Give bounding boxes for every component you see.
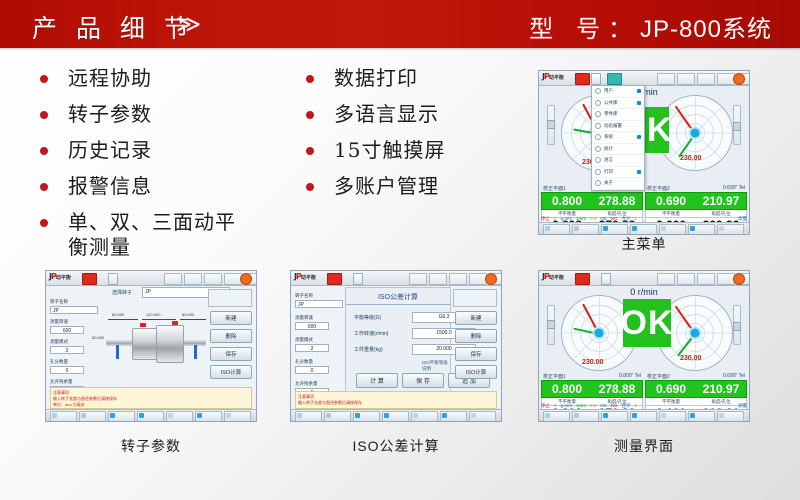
warning-box: 注意事项 输入转子长度与直径参数后请按保存 单位：mm 为毫米 [50,387,252,409]
bottom-button-settings[interactable] [440,411,467,422]
bottom-button-params[interactable] [411,411,438,422]
toolbar-stop-button[interactable] [82,273,97,285]
chevron-right-icon: ≫ [176,10,201,39]
app-toolbar: JP动平衡 [539,71,749,86]
table-row: 0.690210.97 [645,192,747,210]
settings-icon[interactable] [657,73,675,85]
power-icon[interactable] [733,273,745,285]
delete-button[interactable]: 删除 [455,329,497,343]
bottom-button-compare[interactable] [382,411,409,422]
plane2-label: 校正平面2 [647,373,670,380]
app-bottom-toolbar [46,409,256,421]
field-speed[interactable]: 测量转速600 [295,315,329,330]
calibrate-icon[interactable] [697,73,715,85]
bottom-button-three-plane[interactable] [324,411,351,422]
list-item-label: 单、双、三面动平 [68,210,236,234]
app-logo: JP动平衡 [49,272,71,281]
calibrate-icon[interactable] [697,273,715,285]
bottom-button-settings[interactable] [688,411,715,422]
toolbar-menu-button[interactable] [601,273,611,285]
save-button[interactable]: 保存 [210,347,252,361]
toolbar-dropdown-button[interactable] [591,73,601,85]
screenshot-measure-ui[interactable]: JP动平衡 0 r/min 230.00 [538,270,750,422]
list-item-label: 远程协助 [68,66,152,90]
slider-left[interactable] [547,105,555,145]
app-window: JP动平衡 选择转子 JP 转子名称JP 测量转速600 测量模式2 孔分数量0… [45,270,257,422]
plane1-label: 校正平面1 [543,373,566,380]
polar-value-left: 230.00 [582,359,603,366]
polar-hub [595,329,604,338]
calibrate-icon[interactable] [204,273,222,285]
save-button[interactable]: 保 存 [402,373,444,388]
plane2-label: 校正平面2 [647,185,670,192]
menu-item[interactable]: 语言 [592,155,644,167]
correction-mark-1 [140,323,146,327]
bottom-button-compare[interactable] [137,411,164,422]
caption-rotor-params: 转子参数 [45,436,257,456]
settings-icon[interactable] [409,273,427,285]
plane1-label: 校正平面1 [543,185,566,192]
list-item-label: 数据打印 [334,66,418,90]
correction-mark-2 [172,321,178,325]
list-item-label: 多账户管理 [334,174,439,198]
chart-icon[interactable] [429,273,447,285]
field-speed[interactable]: 测量转速600 [50,319,84,334]
menu-item[interactable]: 动态报警 [592,121,644,133]
rpm-display: 0 r/min [630,287,658,297]
chart-icon[interactable] [677,73,695,85]
toolbar-menu-button[interactable] [607,73,622,85]
bottom-button-print[interactable] [717,411,744,422]
caption-main-menu: 主菜单 [538,234,750,254]
table-row: 0.800278.88 [541,192,643,210]
list-item: 转子参数 [34,102,284,127]
bottom-button-three-plane[interactable] [79,411,106,422]
power-icon[interactable] [485,273,497,285]
save-button[interactable]: 保存 [455,347,497,361]
iso-row-label: 工件重量(kg) [354,346,412,353]
list-item-label: 转子参数 [68,102,152,126]
list-item-label-line2: 衡测量 [68,235,284,260]
bottom-button-calibrate[interactable] [108,411,135,422]
app-toolbar: JP动平衡 [539,271,749,286]
list-item: 单、双、三面动平衡测量 [34,210,284,260]
field-holes[interactable]: 孔分数量0 [50,359,84,374]
bullet-dot-icon [40,219,48,227]
menu-item[interactable]: 零件库 [592,109,644,121]
new-button[interactable]: 新建 [210,311,252,325]
menu-item[interactable]: 公共库 [592,98,644,110]
menu-item[interactable]: 系统 [592,132,644,144]
list-item: 数据打印 [300,66,520,91]
app-logo: JP动平衡 [542,72,564,81]
list-item: 报警信息 [34,174,284,199]
model-label: 型 号： [529,16,640,43]
bullet-dot-icon [40,75,48,83]
bottom-button-home[interactable] [543,411,570,422]
toolbar-stop-button[interactable] [575,273,590,285]
screenshot-rotor-params[interactable]: JP动平衡 选择转子 JP 转子名称JP 测量转速600 测量模式2 孔分数量0… [45,270,257,422]
field-rotor-name[interactable]: 转子名称JP [50,299,98,314]
bottom-button-params[interactable] [659,411,686,422]
chart-icon[interactable] [677,273,695,285]
iso-dialog: ISO公差计算 平衡等级(G)G6.3 工作转速(r/min)1500.0 工件… [345,287,451,395]
bottom-button-settings[interactable] [195,411,222,422]
app-bottom-toolbar [539,409,749,421]
power-icon[interactable] [733,73,745,85]
settings-icon[interactable] [657,273,675,285]
table-row: 0.690210.97 [645,380,747,398]
menu-item[interactable]: 打印 [592,167,644,179]
screenshot-main-menu[interactable]: JP动平衡 0 r/min [538,70,750,235]
app-toolbar: JP动平衡 [46,271,256,286]
delete-button[interactable]: 删除 [210,329,252,343]
rotor-thumbnail[interactable] [453,289,497,307]
model-value: JP-800系统 [640,16,772,43]
iso-note: ISO平衡等级说明 [422,360,450,372]
slider-left[interactable] [547,305,555,345]
chart-icon[interactable] [184,273,202,285]
toolbar-stop-button[interactable] [327,273,342,285]
list-item-label: 多语言显示 [334,102,439,126]
app-window: JP动平衡 转子名称JP 测量转速600 测量模式2 孔分数量0 允许残余量0 … [290,270,502,422]
bottom-button-params[interactable] [166,411,193,422]
app-logo: JP动平衡 [542,272,564,281]
app-bottom-toolbar [291,409,501,421]
list-item-label: 报警信息 [68,174,152,198]
bullet-dot-icon [40,111,48,119]
caption-iso-calc: ISO公差计算 [290,436,502,456]
toolbar-menu-button[interactable] [353,273,363,285]
status-bar: 停止 0 g·mm 1mm 0.0 OK NG 合计 1 测量 [541,215,747,222]
rotor-diagram: 60.000 120.000 60.000 60.000 60.000 [102,315,210,371]
status-badge-ok: OK [623,299,671,347]
page-header: 产 品 细 节 ≫ 型 号：JP-800系统 [0,0,800,48]
menu-item[interactable]: 关于 [592,178,644,190]
app-logo: JP动平衡 [294,272,316,281]
plane2-unit: 0.690" Tel [723,373,745,380]
bottom-button-print[interactable] [224,411,251,422]
app-toolbar: JP动平衡 [291,271,501,286]
iso-calc-button[interactable]: ISO计算 [455,365,497,379]
status-bar: 停止 0 g·mm 1mm 0.0 OK NG 合计 1 测量 [541,402,747,409]
iso-row-label: 平衡等级(G) [354,314,412,321]
polar-value-right: 230.00 [680,155,701,162]
list-item-label: 历史记录 [68,138,152,162]
screenshot-iso-calc[interactable]: JP动平衡 转子名称JP 测量转速600 测量模式2 孔分数量0 允许残余量0 … [290,270,502,422]
bottom-button-print[interactable] [469,411,496,422]
calibrate-icon[interactable] [449,273,467,285]
rotor-thumbnail[interactable] [208,289,252,307]
new-button[interactable]: 新建 [455,311,497,325]
feature-column-2: 数据打印 多语言显示 15寸触摸屏 多账户管理 [300,66,520,210]
settings-icon[interactable] [164,273,182,285]
menu-item[interactable]: 用户 [592,86,644,98]
polar-value-right: 230.00 [680,355,701,362]
power-icon[interactable] [240,273,252,285]
polar-hub [691,329,700,338]
dropdown-menu[interactable]: 用户 公共库 零件库 动态报警 系统 统计 语言 打印 关于 [591,85,645,191]
field-rotor-name[interactable]: 转子名称JP [295,293,343,308]
bullet-dot-icon [306,147,314,155]
list-item: 多语言显示 [300,102,520,127]
slider-right[interactable] [733,105,741,145]
bullet-dot-icon [40,183,48,191]
warning-box: 注意事项 输入转子长度与直径参数后请按保存 [295,391,497,409]
select-rotor-label: 选择转子 [112,289,132,296]
list-item: 历史记录 [34,138,284,163]
iso-dialog-title: ISO公差计算 [346,292,450,305]
bottom-button-calibrate[interactable] [353,411,380,422]
bottom-button-compare[interactable] [630,411,657,422]
slider-right[interactable] [733,305,741,345]
model-number: 型 号：JP-800系统 [529,9,772,44]
plane2-unit: 0.690" Tel [723,185,745,192]
bottom-button-three-plane[interactable] [572,411,599,422]
iso-row-label: 工作转速(r/min) [354,330,412,337]
bullet-dot-icon [306,75,314,83]
bullet-dot-icon [40,147,48,155]
list-item: 远程协助 [34,66,284,91]
page-title: 产 品 细 节 [32,9,195,45]
table-row: 0.800278.88 [541,380,643,398]
plane1-unit: 0.800" Tel [619,373,641,380]
polar-hub [691,129,700,138]
app-window: JP动平衡 0 r/min 230.00 [538,270,750,422]
field-mode[interactable]: 测量模式2 [50,339,84,354]
field-holes[interactable]: 孔分数量0 [295,359,329,374]
bullet-dot-icon [306,183,314,191]
app-bottom-toolbar [539,222,749,234]
field-mode[interactable]: 测量模式2 [295,337,329,352]
menu-item[interactable]: 统计 [592,144,644,156]
list-item-label: 15寸触摸屏 [334,138,445,162]
list-item: 15寸触摸屏 [300,138,520,163]
bottom-button-home[interactable] [50,411,77,422]
iso-calc-button[interactable]: ISO计算 [210,365,252,379]
calculate-button[interactable]: 计 算 [356,373,398,388]
toolbar-menu-button[interactable] [108,273,118,285]
list-item: 多账户管理 [300,174,520,199]
bottom-button-home[interactable] [295,411,322,422]
bottom-button-calibrate[interactable] [601,411,628,422]
app-window: JP动平衡 0 r/min [538,70,750,235]
caption-measure-ui: 测量界面 [538,436,750,456]
bullet-dot-icon [306,111,314,119]
toolbar-stop-button[interactable] [575,73,590,85]
feature-column-1: 远程协助 转子参数 历史记录 报警信息 单、双、三面动平衡测量 [34,66,284,271]
